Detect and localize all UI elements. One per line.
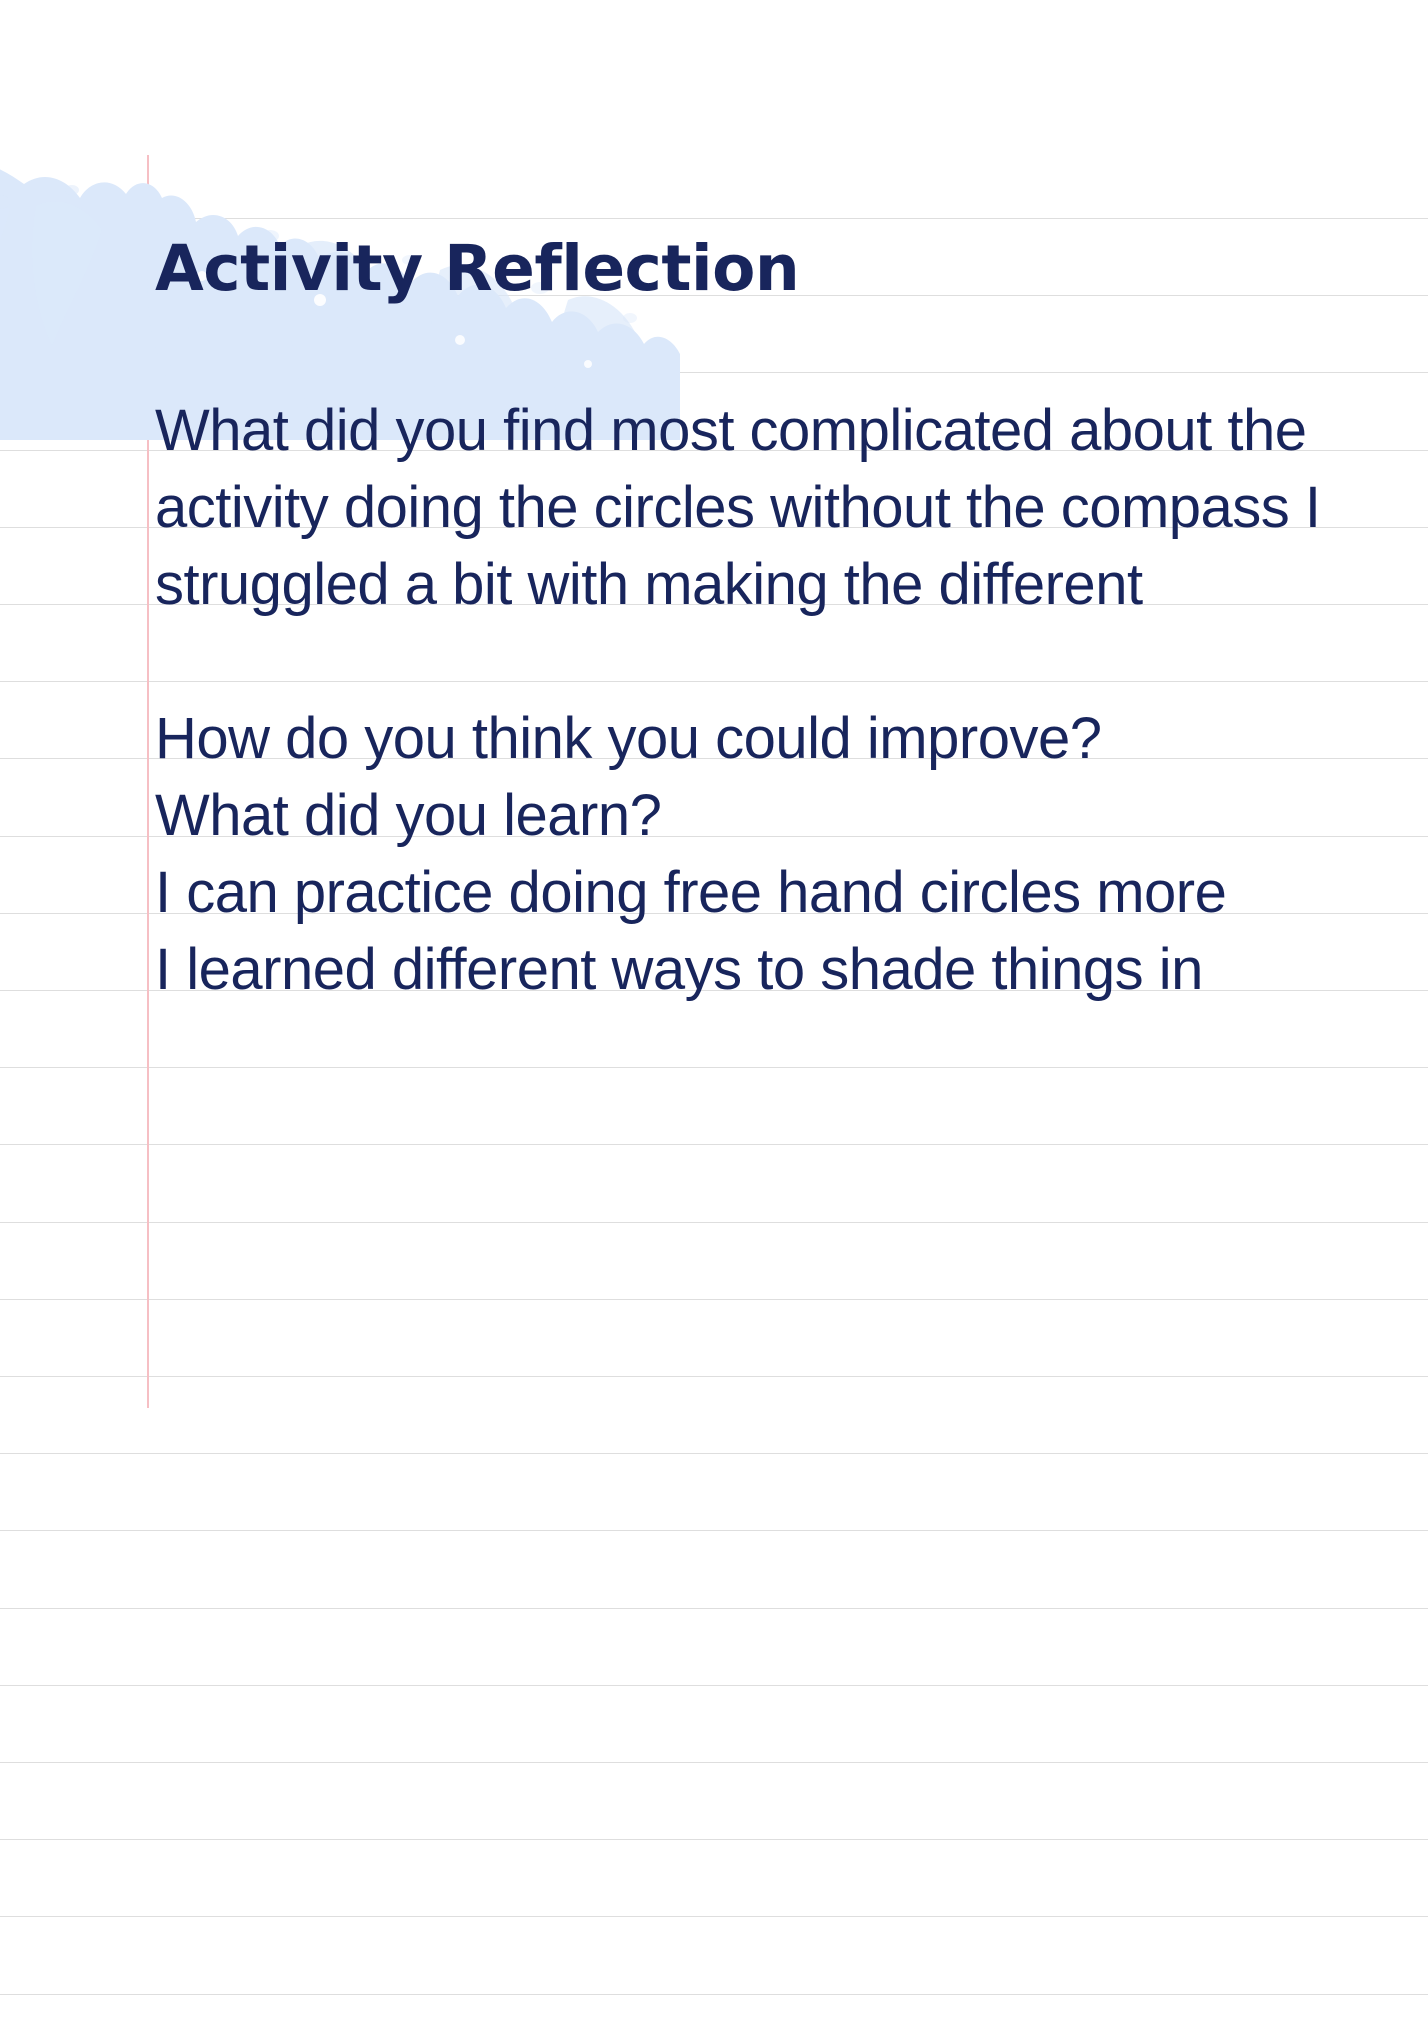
notebook-page: Activity Reflection What did you find mo… bbox=[0, 0, 1428, 2018]
text-line: What did you find most complicated about… bbox=[155, 392, 1428, 469]
text-line: I learned different ways to shade things… bbox=[155, 931, 1428, 1008]
text-line: I can practice doing free hand circles m… bbox=[155, 854, 1428, 931]
text-line: What did you learn? bbox=[155, 777, 1428, 854]
text-line: struggled a bit with making the differen… bbox=[155, 546, 1428, 623]
text-line-blank bbox=[155, 623, 1428, 700]
reflection-text-block: What did you find most complicated about… bbox=[155, 392, 1428, 1008]
page-content: Activity Reflection What did you find mo… bbox=[155, 0, 1428, 2018]
page-title: Activity Reflection bbox=[155, 237, 799, 300]
text-line: How do you think you could improve? bbox=[155, 700, 1428, 777]
text-line: activity doing the circles without the c… bbox=[155, 469, 1428, 546]
